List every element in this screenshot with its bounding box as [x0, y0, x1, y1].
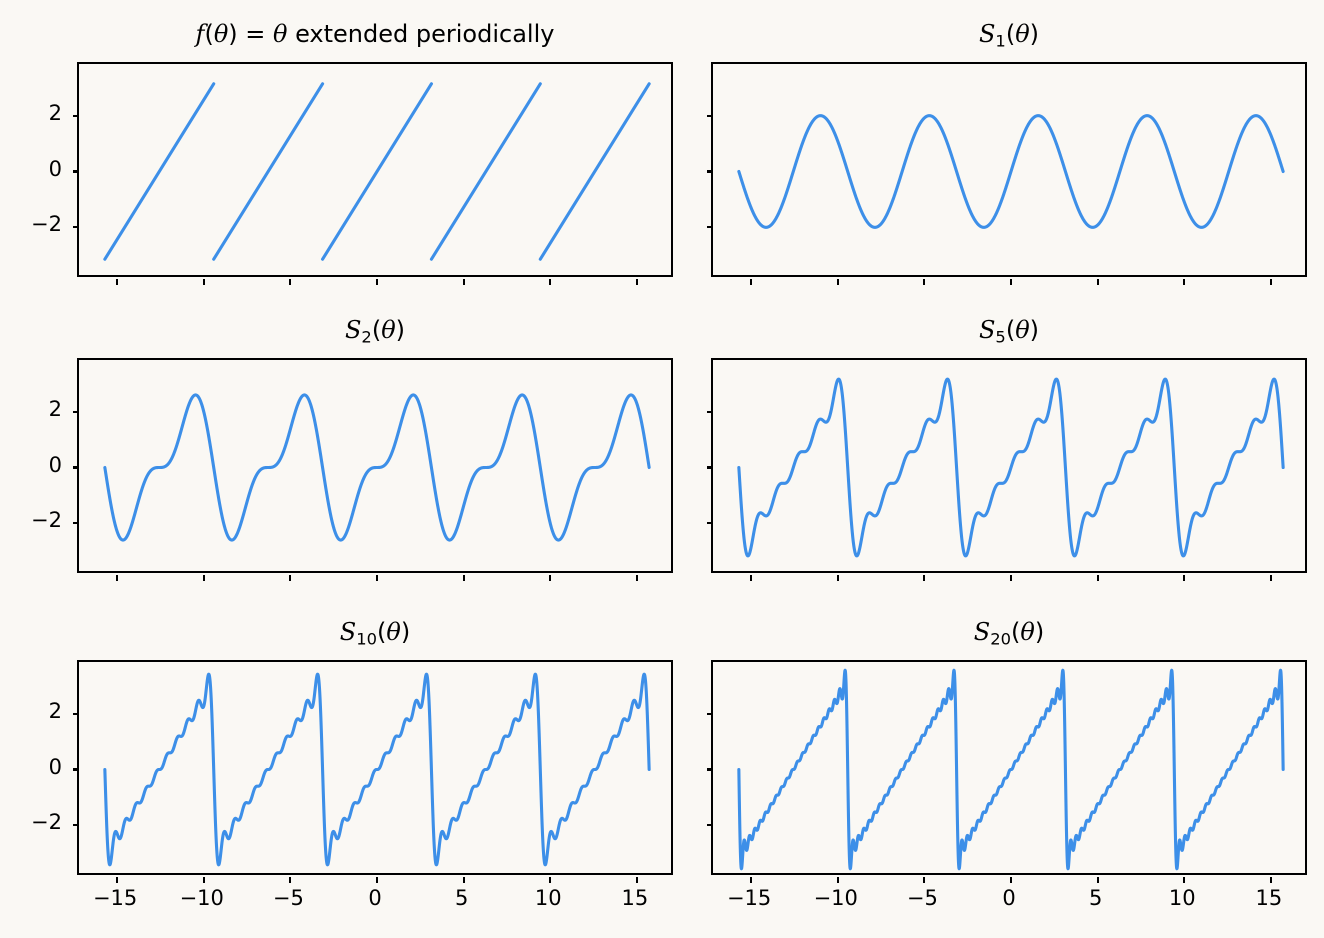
subplot-title-S5: S5(θ): [711, 318, 1307, 346]
y-tickmark: [707, 226, 713, 228]
x-tickmark: [203, 575, 205, 581]
axes-S1: [711, 62, 1307, 277]
x-tick-label: 0: [335, 888, 415, 909]
y-tickmark: [707, 411, 713, 413]
x-tickmark: [549, 575, 551, 581]
x-tickmark: [1097, 877, 1099, 883]
x-tickmark: [1270, 575, 1272, 581]
curve-canvas-S5: [713, 360, 1309, 575]
x-tickmark: [549, 279, 551, 285]
y-tickmark: [707, 466, 713, 468]
y-tick-label: 2: [2, 701, 62, 722]
x-tick-label: −10: [162, 888, 242, 909]
x-tickmark: [463, 279, 465, 285]
x-tickmark: [923, 279, 925, 285]
y-tickmark: [707, 713, 713, 715]
y-tick-label: −2: [2, 812, 62, 833]
x-tick-label: −15: [709, 888, 789, 909]
axes-S10: [77, 660, 673, 875]
curve-canvas-S10: [79, 662, 675, 877]
x-tickmark: [837, 575, 839, 581]
x-tickmark: [750, 575, 752, 581]
y-tickmark: [73, 713, 79, 715]
x-tickmark: [463, 877, 465, 883]
x-tickmark: [116, 877, 118, 883]
y-tickmark: [73, 411, 79, 413]
axes-S2: [77, 358, 673, 573]
data-line: [323, 84, 432, 259]
curve-canvas-S20: [713, 662, 1309, 877]
y-tick-label: 2: [2, 399, 62, 420]
x-tick-label: −15: [75, 888, 155, 909]
x-tick-label: 15: [1229, 888, 1309, 909]
x-tickmark: [837, 877, 839, 883]
x-tick-label: 15: [595, 888, 675, 909]
x-tick-label: −10: [796, 888, 876, 909]
x-tickmark: [1183, 877, 1185, 883]
x-tickmark: [636, 877, 638, 883]
x-tickmark: [1183, 575, 1185, 581]
x-tickmark: [463, 575, 465, 581]
y-tick-label: 0: [2, 159, 62, 180]
x-tickmark: [750, 877, 752, 883]
data-line: [105, 84, 214, 259]
y-tickmark: [73, 170, 79, 172]
x-tick-label: 0: [969, 888, 1049, 909]
y-tick-label: 2: [2, 103, 62, 124]
data-line: [431, 84, 540, 259]
x-tickmark: [289, 575, 291, 581]
x-tickmark: [1270, 279, 1272, 285]
x-tickmark: [636, 279, 638, 285]
fourier-series-figure: f(θ) = θ extended periodically−202S1(θ)S…: [0, 0, 1324, 938]
x-tick-label: −5: [882, 888, 962, 909]
x-tickmark: [116, 575, 118, 581]
y-tickmark: [707, 824, 713, 826]
y-tick-label: −2: [2, 510, 62, 531]
y-tickmark: [73, 824, 79, 826]
x-tickmark: [923, 877, 925, 883]
y-tick-label: −2: [2, 214, 62, 235]
x-tickmark: [750, 279, 752, 285]
data-line: [214, 84, 323, 259]
x-tickmark: [376, 877, 378, 883]
axes-S5: [711, 358, 1307, 573]
y-tickmark: [73, 466, 79, 468]
x-tickmark: [1097, 279, 1099, 285]
y-tickmark: [73, 768, 79, 770]
y-tickmark: [73, 226, 79, 228]
x-tickmark: [1010, 877, 1012, 883]
subplot-title-S2: S2(θ): [77, 318, 673, 346]
x-tickmark: [837, 279, 839, 285]
curve-canvas-S1: [713, 64, 1309, 279]
x-tick-label: 10: [508, 888, 588, 909]
y-tick-label: 0: [2, 757, 62, 778]
x-tick-label: −5: [248, 888, 328, 909]
y-tickmark: [707, 115, 713, 117]
subplot-title-f-theta: f(θ) = θ extended periodically: [77, 22, 673, 46]
x-tickmark: [923, 575, 925, 581]
subplot-title-S10: S10(θ): [77, 620, 673, 648]
x-tickmark: [289, 877, 291, 883]
curve-canvas-f-theta: [79, 64, 675, 279]
data-line: [739, 379, 1283, 556]
x-tick-label: 10: [1142, 888, 1222, 909]
y-tickmark: [73, 115, 79, 117]
y-tickmark: [73, 522, 79, 524]
x-tickmark: [1183, 279, 1185, 285]
y-tick-label: 0: [2, 455, 62, 476]
curve-canvas-S2: [79, 360, 675, 575]
subplot-title-S1: S1(θ): [711, 22, 1307, 50]
y-tickmark: [707, 522, 713, 524]
x-tickmark: [376, 575, 378, 581]
x-tickmark: [1097, 575, 1099, 581]
x-tickmark: [1270, 877, 1272, 883]
data-line: [739, 116, 1283, 228]
axes-S20: [711, 660, 1307, 875]
data-line: [105, 395, 649, 540]
x-tickmark: [1010, 279, 1012, 285]
data-line: [105, 674, 649, 865]
x-tickmark: [203, 279, 205, 285]
y-tickmark: [707, 768, 713, 770]
axes-f-theta: [77, 62, 673, 277]
y-tickmark: [707, 170, 713, 172]
x-tickmark: [636, 575, 638, 581]
data-line: [739, 670, 1283, 868]
x-tickmark: [203, 877, 205, 883]
x-tickmark: [549, 877, 551, 883]
subplot-title-S20: S20(θ): [711, 620, 1307, 648]
x-tick-label: 5: [1056, 888, 1136, 909]
x-tick-label: 5: [422, 888, 502, 909]
x-tickmark: [289, 279, 291, 285]
x-tickmark: [116, 279, 118, 285]
x-tickmark: [1010, 575, 1012, 581]
x-tickmark: [376, 279, 378, 285]
data-line: [540, 84, 649, 259]
